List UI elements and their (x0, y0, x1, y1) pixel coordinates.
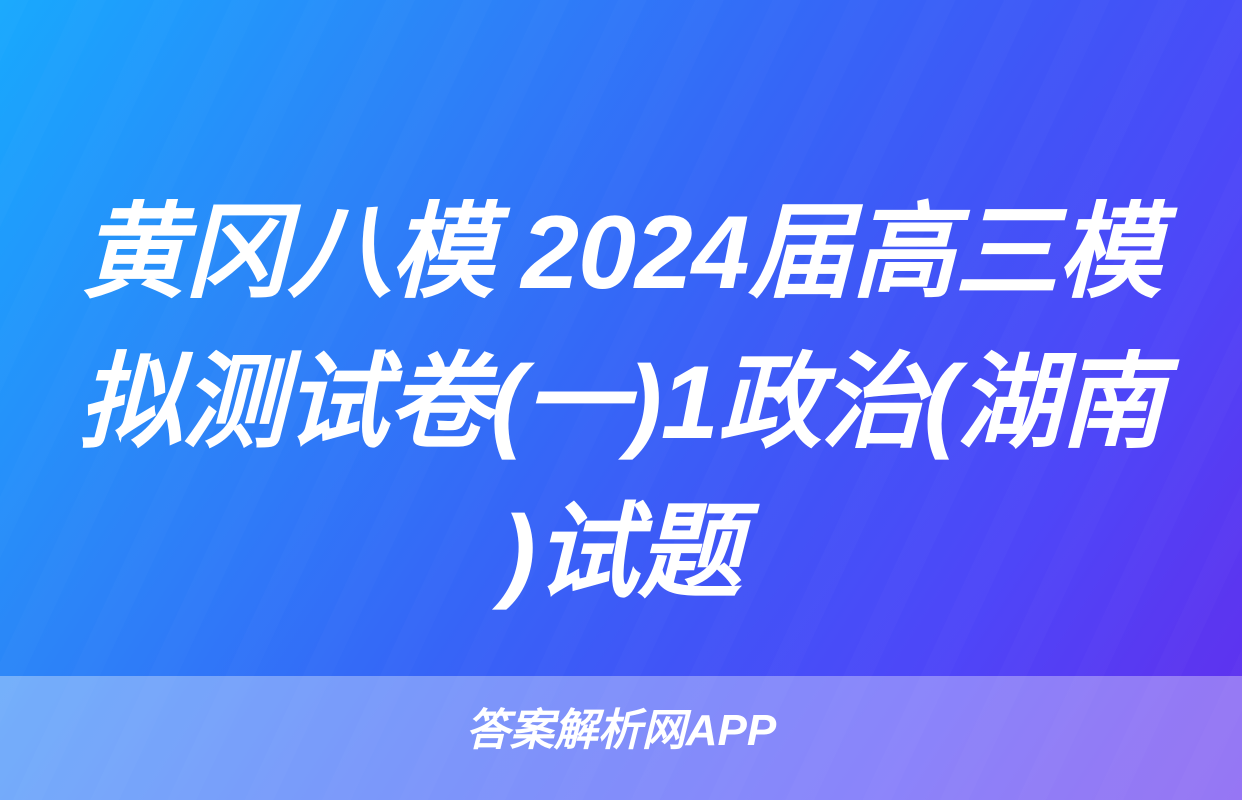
watermark-brand-label: 答案解析网APP (466, 706, 776, 756)
exam-cover-card: 黄冈八模 2024届高三模 拟测试卷(一)1政治(湖南 )试题 答案解析网APP (0, 0, 1242, 800)
title-line-1: 黄冈八模 2024届高三模 (74, 178, 1168, 328)
title-line-2: 拟测试卷(一)1政治(湖南 (74, 328, 1168, 478)
title-line-3: )试题 (74, 478, 1168, 628)
watermark-band: 答案解析网APP (0, 676, 1242, 800)
page-title: 黄冈八模 2024届高三模 拟测试卷(一)1政治(湖南 )试题 (74, 178, 1168, 628)
